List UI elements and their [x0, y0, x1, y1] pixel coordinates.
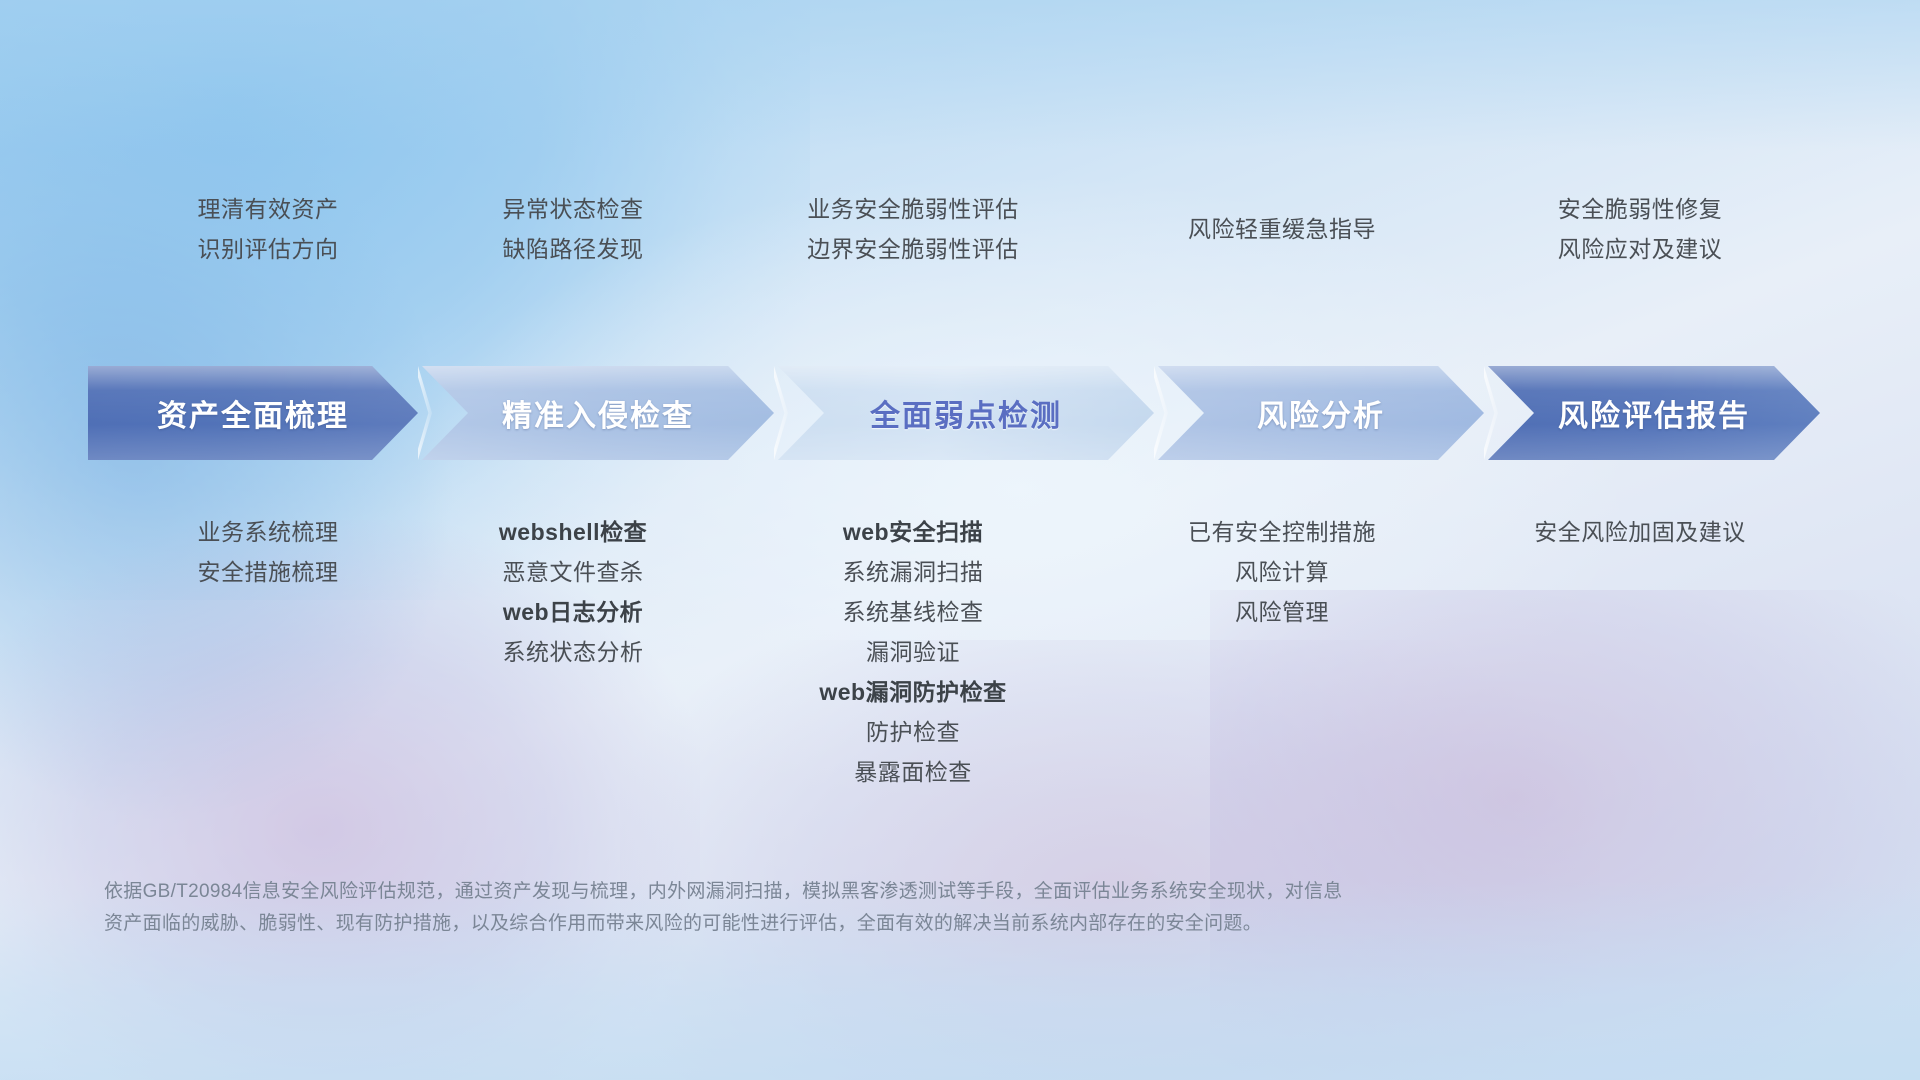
footer-line: 依据GB/T20984信息安全风险评估规范，通过资产发现与梳理，内外网漏洞扫描，… [104, 876, 1664, 908]
chevron-stage-weakness-detection[interactable]: 全面弱点检测 [778, 366, 1154, 460]
chevron-label: 全面弱点检测 [870, 391, 1062, 435]
infographic-content: 理清有效资产 识别评估方向 异常状态检查 缺陷路径发现 业务安全脆弱性评估 边界… [0, 0, 1920, 1080]
chevron-label: 精准入侵检查 [502, 391, 694, 435]
detail-item: 防护检查 [693, 712, 1133, 752]
chevron-stage-risk-analysis[interactable]: 风险分析 [1158, 366, 1484, 460]
chevron-stage-risk-report[interactable]: 风险评估报告 [1488, 366, 1820, 460]
chevron-label: 风险分析 [1257, 391, 1385, 435]
chevron-stage-asset-inventory[interactable]: 资产全面梳理 [88, 366, 418, 460]
top-label: 安全脆弱性修复 [1420, 189, 1860, 229]
stage-top-labels-risk-report: 安全脆弱性修复 风险应对及建议 [1420, 189, 1860, 269]
chevron-label: 风险评估报告 [1558, 391, 1750, 435]
chevron-stage-intrusion-check[interactable]: 精准入侵检查 [422, 366, 774, 460]
detail-item: 安全风险加固及建议 [1420, 512, 1860, 552]
detail-item: 风险计算 [1062, 552, 1502, 592]
stage-detail-list-risk-report: 安全风险加固及建议 [1420, 512, 1860, 552]
process-chevron-bar: 资产全面梳理 精准入侵检查 全面弱点检测 风险分析 风险评估报告 [88, 366, 1820, 460]
detail-item: 风险管理 [1062, 592, 1502, 632]
footer-line: 资产面临的威胁、脆弱性、现有防护措施，以及综合作用而带来风险的可能性进行评估，全… [104, 908, 1664, 940]
chevron-label: 资产全面梳理 [157, 391, 349, 435]
detail-item: web漏洞防护检查 [693, 672, 1133, 712]
footer-description: 依据GB/T20984信息安全风险评估规范，通过资产发现与梳理，内外网漏洞扫描，… [104, 876, 1664, 940]
detail-item: 漏洞验证 [693, 632, 1133, 672]
detail-item: 暴露面检查 [693, 752, 1133, 792]
top-label: 风险应对及建议 [1420, 229, 1860, 269]
